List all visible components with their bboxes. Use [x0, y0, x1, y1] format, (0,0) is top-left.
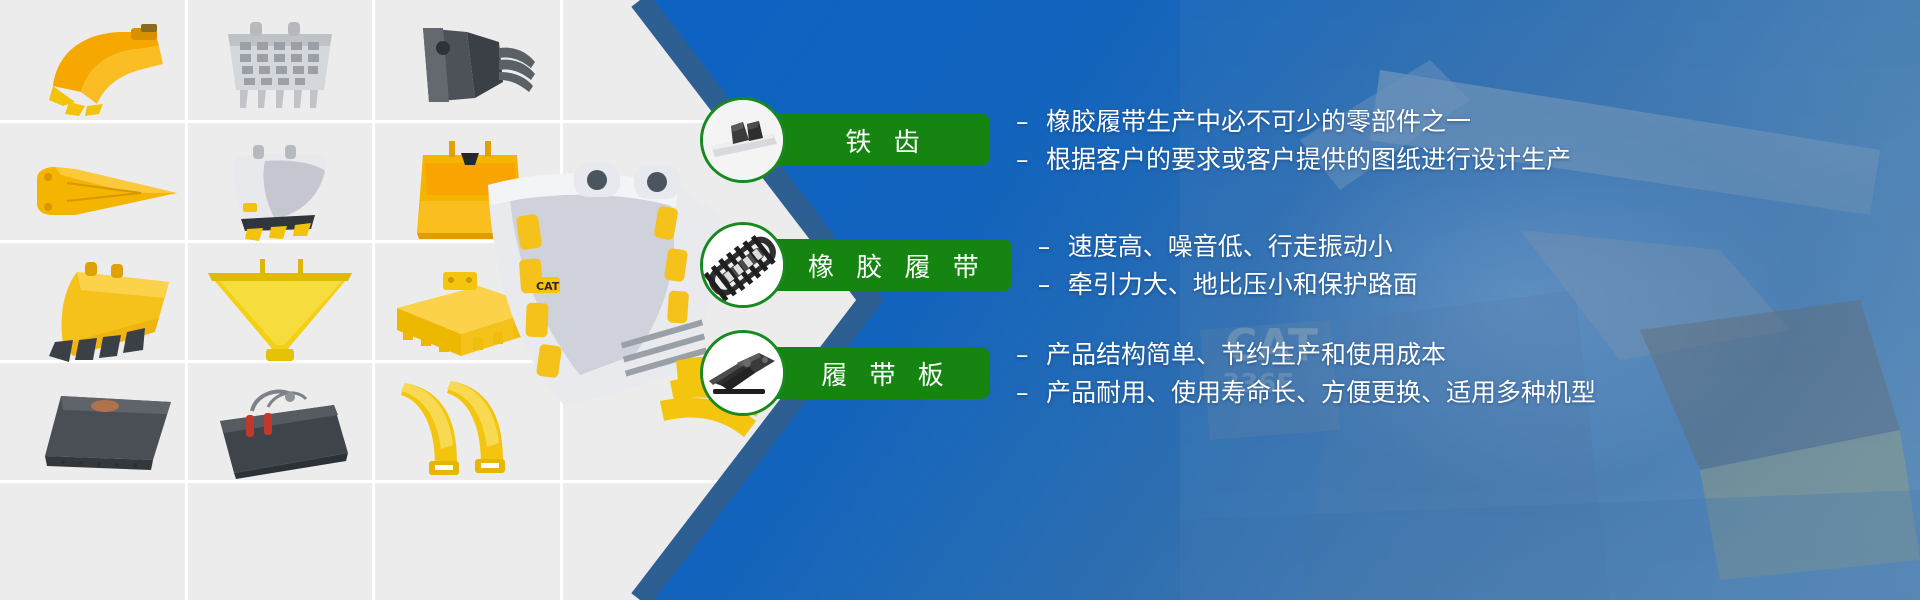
- bullet-text: 牵引力大、地比压小和保护路面: [1068, 269, 1418, 300]
- track-shoe-thumb-icon[interactable]: [700, 330, 786, 416]
- product-cell[interactable]: [198, 380, 364, 482]
- clamshell-grab-bucket-icon: [206, 381, 356, 481]
- bullet-marker: –: [1016, 106, 1036, 137]
- bullet-text: 根据客户的要求或客户提供的图纸进行设计生产: [1046, 144, 1571, 175]
- grid-divider-vertical: [372, 0, 375, 600]
- grid-divider-horizontal: [0, 120, 780, 123]
- feature-bullets-track-shoe: – 产品结构简单、节约生产和使用成本 – 产品耐用、使用寿命长、方便更换、适用多…: [1016, 339, 1596, 408]
- rubber-track-thumb-icon[interactable]: [700, 222, 786, 308]
- skeleton-screening-bucket-icon: [214, 16, 346, 116]
- grapple-ripper-bucket-icon: [403, 18, 541, 116]
- product-cell[interactable]: [28, 262, 186, 362]
- product-cell[interactable]: [30, 382, 186, 482]
- heavy-duty-bucket-yellow-icon: [33, 260, 181, 364]
- bullet-item: – 根据客户的要求或客户提供的图纸进行设计生产: [1016, 144, 1571, 175]
- rock-bucket-orange-icon: [35, 20, 175, 116]
- feature-row-track-shoe[interactable]: 履 带 板 – 产品结构简单、节约生产和使用成本 – 产品耐用、使用寿命长、方便…: [700, 330, 1596, 416]
- feature-row-iron-teeth[interactable]: 铁 齿 – 橡胶履带生产中必不可少的零部件之一 – 根据客户的要求或客户提供的图…: [700, 97, 1571, 183]
- product-cell[interactable]: [200, 140, 362, 244]
- bullet-item: – 产品结构简单、节约生产和使用成本: [1016, 339, 1596, 370]
- feature-row-rubber-track[interactable]: 橡 胶 履 带 – 速度高、噪音低、行走振动小 – 牵引力大、地比压小和保护路面: [700, 222, 1418, 308]
- product-cell[interactable]: [200, 14, 360, 118]
- bullet-marker: –: [1016, 144, 1036, 175]
- product-cell[interactable]: [196, 258, 364, 366]
- feature-label-pill-track-shoe[interactable]: 履 带 板: [764, 347, 990, 399]
- bullet-text: 产品结构简单、节约生产和使用成本: [1046, 339, 1446, 370]
- ditch-cleaning-bucket-dark-icon: [37, 384, 179, 480]
- iron-teeth-thumb-icon[interactable]: [700, 97, 786, 183]
- bullet-item: – 速度高、噪音低、行走振动小: [1038, 231, 1418, 262]
- bullet-marker: –: [1016, 377, 1036, 408]
- bullet-marker: –: [1038, 269, 1058, 300]
- v-trenching-bucket-icon: [202, 259, 358, 365]
- bullet-marker: –: [1016, 339, 1036, 370]
- promotional-banner: CAT C: [0, 0, 1920, 600]
- bullet-text: 速度高、噪音低、行走振动小: [1068, 231, 1393, 262]
- feature-bullets-iron-teeth: – 橡胶履带生产中必不可少的零部件之一 – 根据客户的要求或客户提供的图纸进行设…: [1016, 106, 1571, 175]
- product-cell[interactable]: [392, 16, 552, 118]
- feature-label-text: 橡 胶 履 带: [808, 247, 986, 284]
- product-cell[interactable]: [30, 18, 180, 118]
- bullet-item: – 牵引力大、地比压小和保护路面: [1038, 269, 1418, 300]
- bullet-text: 橡胶履带生产中必不可少的零部件之一: [1046, 106, 1471, 137]
- bullet-text: 产品耐用、使用寿命长、方便更换、适用多种机型: [1046, 377, 1596, 408]
- bullet-item: – 产品耐用、使用寿命长、方便更换、适用多种机型: [1016, 377, 1596, 408]
- feature-label-text: 铁 齿: [845, 122, 926, 159]
- feature-label-pill-rubber-track[interactable]: 橡 胶 履 带: [764, 239, 1012, 291]
- product-cell[interactable]: [26, 146, 186, 238]
- bullet-marker: –: [1038, 231, 1058, 262]
- feature-label-pill-iron-teeth[interactable]: 铁 齿: [764, 114, 990, 166]
- feature-label-text: 履 带 板: [821, 355, 951, 392]
- bullet-item: – 橡胶履带生产中必不可少的零部件之一: [1016, 106, 1571, 137]
- feature-bullets-rubber-track: – 速度高、噪音低、行走振动小 – 牵引力大、地比压小和保护路面: [1038, 231, 1418, 300]
- tilt-bucket-white-icon: [211, 141, 351, 243]
- svg-text:CAT: CAT: [536, 280, 560, 293]
- ripper-tooth-icon: [31, 163, 181, 221]
